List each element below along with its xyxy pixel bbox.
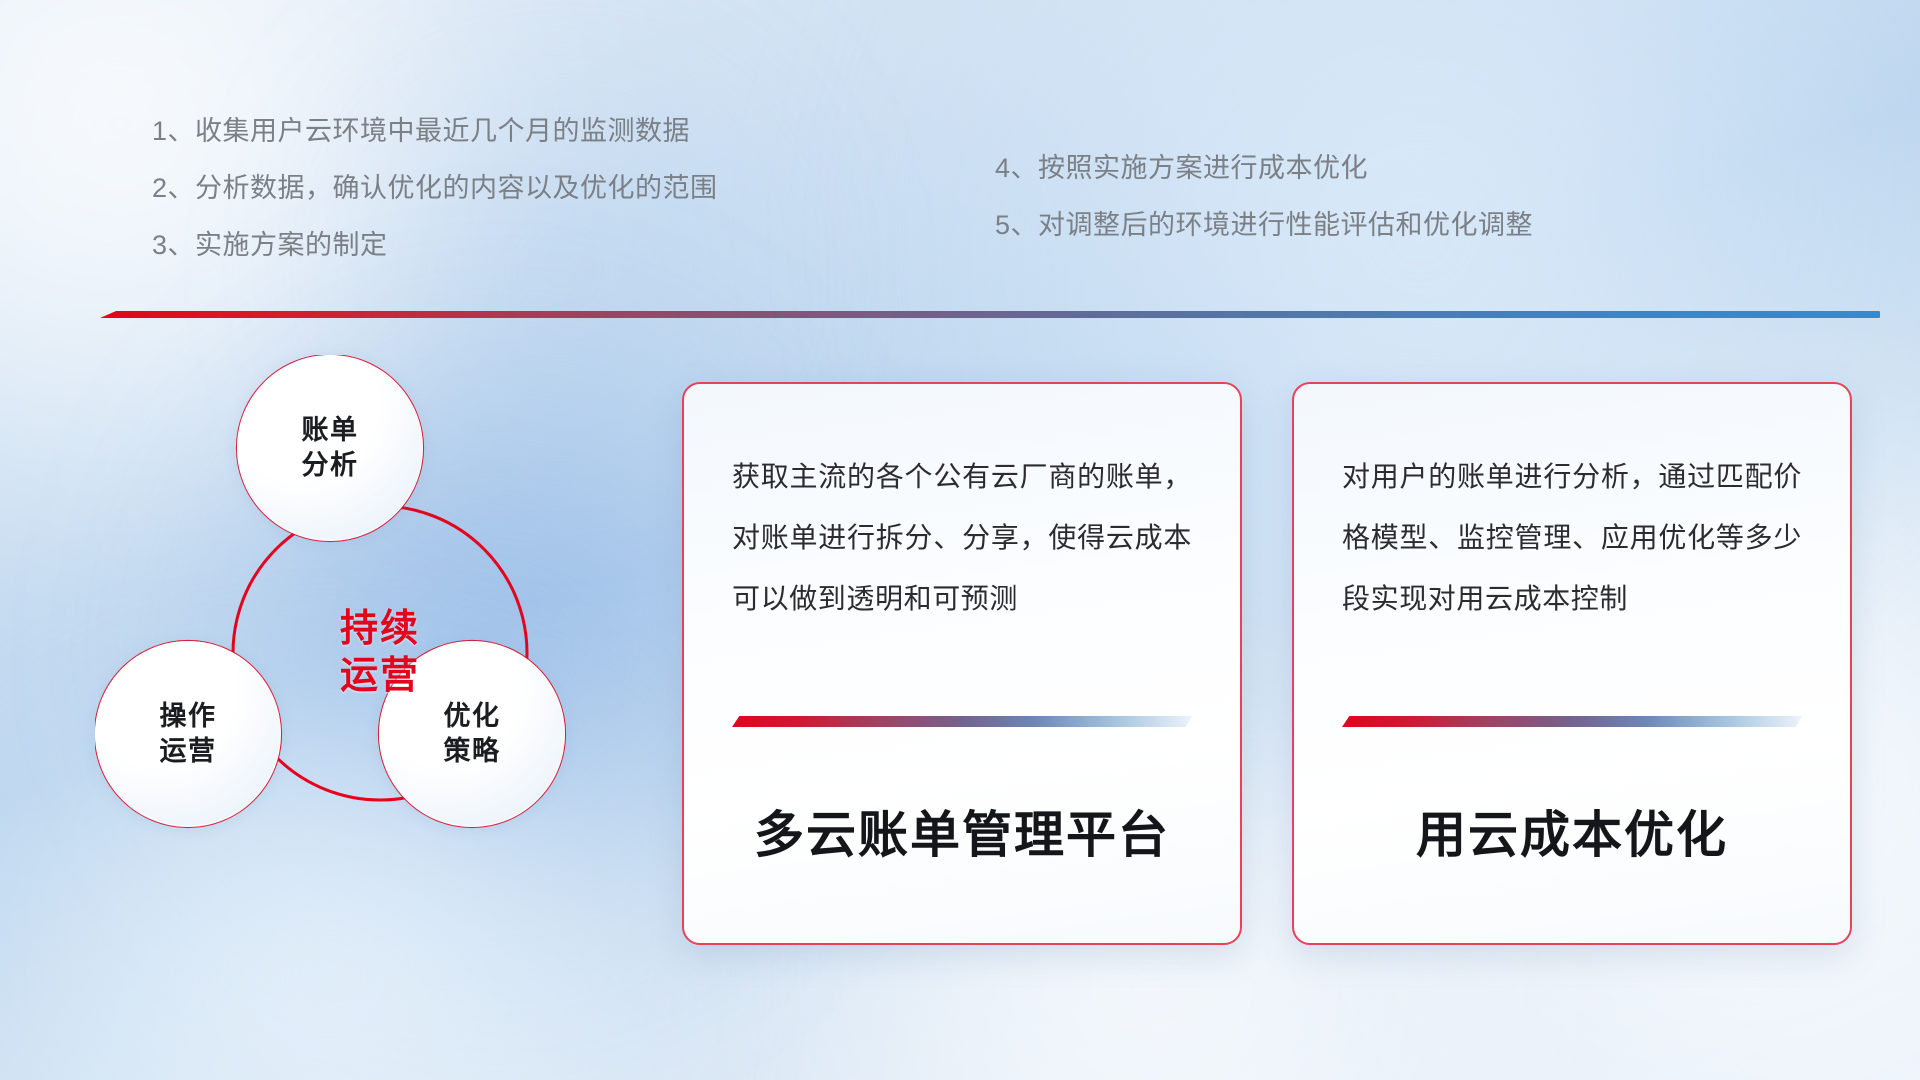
step-item-2: 2、分析数据，确认优化的内容以及优化的范围 <box>152 175 718 202</box>
card-accent-rule <box>1342 716 1802 727</box>
venn-bubble-label-line1: 操作 <box>160 699 217 734</box>
step-item-4: 4、按照实施方案进行成本优化 <box>995 155 1533 182</box>
venn-bubble-label-line2: 运营 <box>160 734 217 769</box>
venn-bubble-label-line2: 分析 <box>302 448 359 483</box>
card-body-text: 获取主流的各个公有云厂商的账单，对账单进行拆分、分享，使得云成本可以做到透明和可… <box>732 446 1192 704</box>
gradient-divider-line <box>100 311 1880 318</box>
card-body-text: 对用户的账单进行分析，通过匹配价格模型、监控管理、应用优化等多少段实现对用云成本… <box>1342 446 1802 704</box>
card-title: 用云成本优化 <box>1342 795 1802 867</box>
steps-column-left: 1、收集用户云环境中最近几个月的监测数据 2、分析数据，确认优化的内容以及优化的… <box>152 118 718 289</box>
step-item-5: 5、对调整后的环境进行性能评估和优化调整 <box>995 212 1533 239</box>
slide-canvas: 1、收集用户云环境中最近几个月的监测数据 2、分析数据，确认优化的内容以及优化的… <box>0 0 1920 1080</box>
venn-diagram: 账单 分析 操作 运营 优化 策略 持续 运营 <box>95 355 615 925</box>
venn-center-label: 持续 运营 <box>232 505 528 801</box>
card-accent-rule <box>732 716 1192 727</box>
venn-center-label-line1: 持续 <box>340 606 420 654</box>
feature-card-multicloud-billing[interactable]: 获取主流的各个公有云厂商的账单，对账单进行拆分、分享，使得云成本可以做到透明和可… <box>682 382 1242 945</box>
steps-column-right: 4、按照实施方案进行成本优化 5、对调整后的环境进行性能评估和优化调整 <box>995 155 1533 269</box>
feature-card-cloud-cost-optimization[interactable]: 对用户的账单进行分析，通过匹配价格模型、监控管理、应用优化等多少段实现对用云成本… <box>1292 382 1852 945</box>
step-item-3: 3、实施方案的制定 <box>152 232 718 259</box>
step-item-1: 1、收集用户云环境中最近几个月的监测数据 <box>152 118 718 145</box>
steps-list: 1、收集用户云环境中最近几个月的监测数据 2、分析数据，确认优化的内容以及优化的… <box>0 0 1920 300</box>
venn-center-label-line2: 运营 <box>340 653 420 701</box>
card-title: 多云账单管理平台 <box>732 795 1192 867</box>
venn-bubble-label-line1: 账单 <box>302 413 359 448</box>
